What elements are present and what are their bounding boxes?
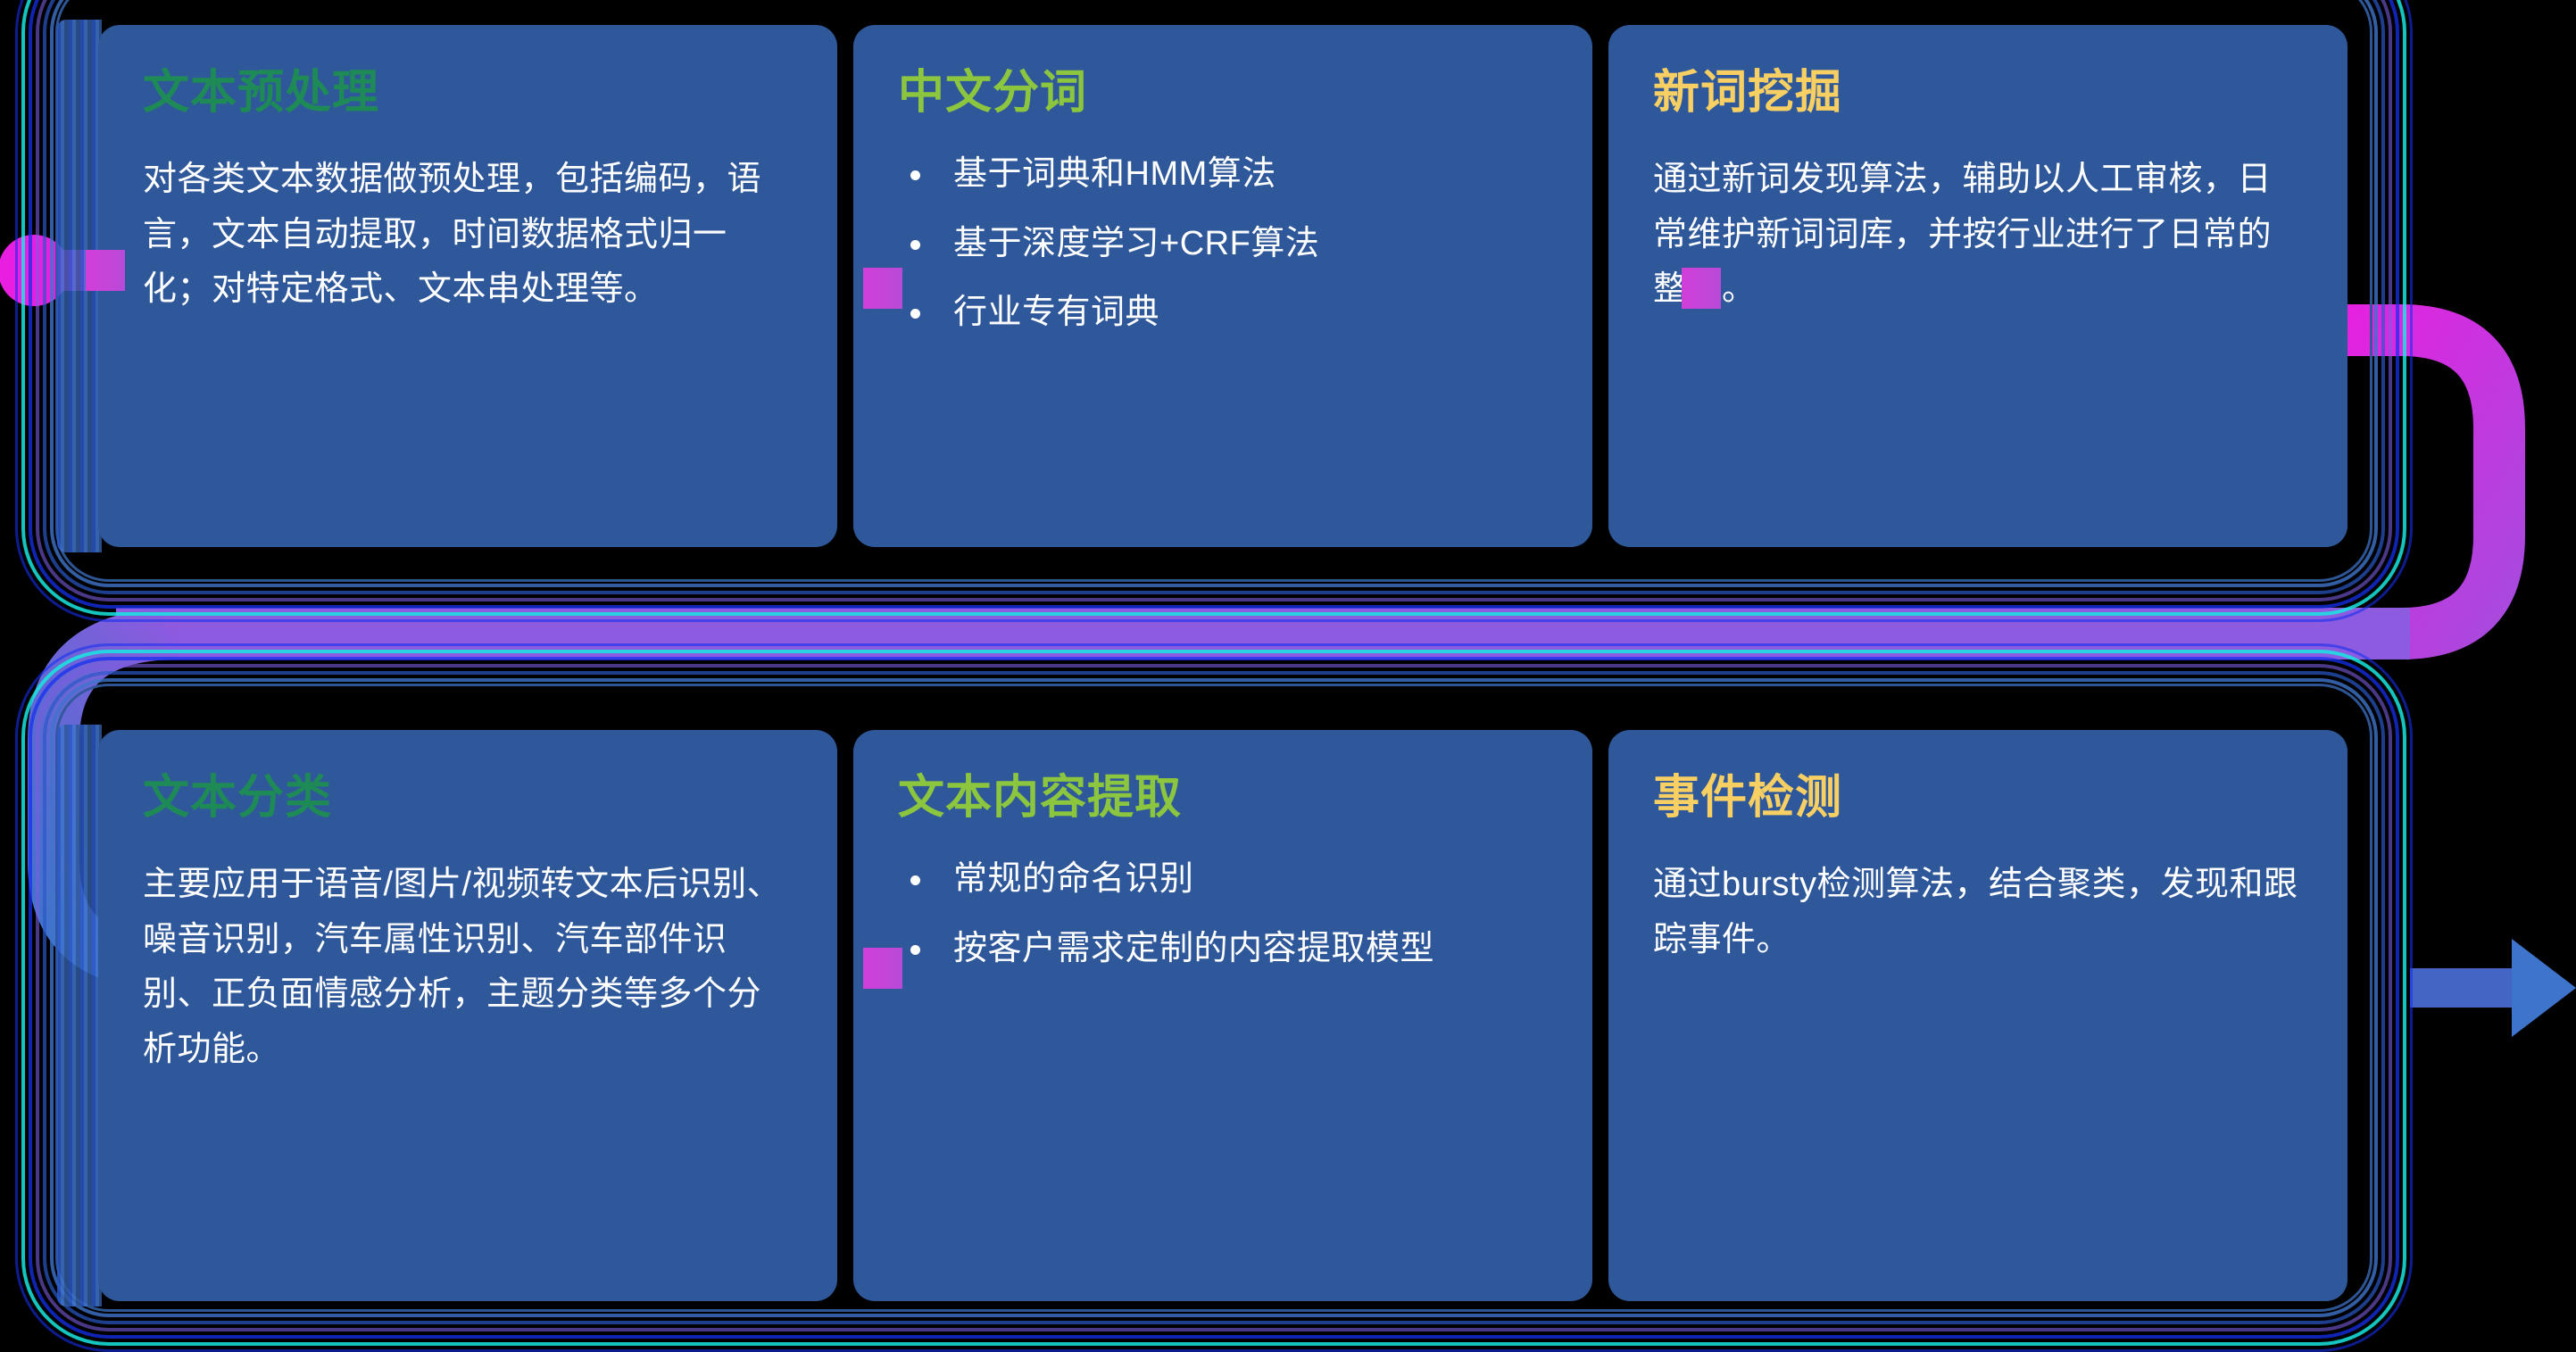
card-title: 文本内容提取 <box>898 773 1548 824</box>
connector-tab-3 <box>1682 268 1721 309</box>
connector-right-wrap <box>2321 330 2499 634</box>
list-item: 行业专有词典 <box>898 291 1548 335</box>
card-paragraph: 主要应用于语音/图片/视频转文本后识别、噪音识别，汽车属性识别、汽车部件识别、正… <box>143 858 793 1077</box>
card-event-detection[interactable]: 事件检测 通过bursty检测算法，结合聚类，发现和跟踪事件。 <box>1608 730 2347 1301</box>
card-title: 事件检测 <box>1653 773 2303 824</box>
connector-tab-1 <box>86 250 125 291</box>
card-bullet-list: 常规的命名识别 按客户需求定制的内容提取模型 <box>898 858 1548 971</box>
inner-sheen <box>57 725 102 1306</box>
connector-tab-4 <box>863 948 902 989</box>
card-chinese-word-segmentation[interactable]: 中文分词 基于词典和HMM算法 基于深度学习+CRF算法 行业专有词典 <box>853 25 1592 547</box>
card-text-preprocessing[interactable]: 文本预处理 对各类文本数据做预处理，包括编码，语言，文本自动提取，时间数据格式归… <box>98 25 837 547</box>
end-arrow <box>2512 939 2576 1037</box>
card-title: 文本分类 <box>143 773 793 824</box>
list-item: 常规的命名识别 <box>898 858 1548 901</box>
card-text-content-extraction[interactable]: 文本内容提取 常规的命名识别 按客户需求定制的内容提取模型 <box>853 730 1592 1301</box>
card-paragraph: 通过新词发现算法，辅助以人工审核，日常维护新词词库，并按行业进行了日常的整理。 <box>1653 153 2303 318</box>
card-text-classification[interactable]: 文本分类 主要应用于语音/图片/视频转文本后识别、噪音识别，汽车属性识别、汽车部… <box>98 730 837 1301</box>
end-connector-bar <box>2410 968 2517 1008</box>
bottom-row: 文本分类 主要应用于语音/图片/视频转文本后识别、噪音识别，汽车属性识别、汽车部… <box>98 730 2347 1301</box>
card-title: 中文分词 <box>898 68 1548 119</box>
card-paragraph: 通过bursty检测算法，结合聚类，发现和跟踪事件。 <box>1653 858 2303 967</box>
list-item: 基于词典和HMM算法 <box>898 153 1548 196</box>
card-title: 新词挖掘 <box>1653 68 2303 119</box>
card-title: 文本预处理 <box>143 68 793 119</box>
card-paragraph: 对各类文本数据做预处理，包括编码，语言，文本自动提取，时间数据格式归一化；对特定… <box>143 153 793 318</box>
top-row: 文本预处理 对各类文本数据做预处理，包括编码，语言，文本自动提取，时间数据格式归… <box>98 25 2347 547</box>
card-bullet-list: 基于词典和HMM算法 基于深度学习+CRF算法 行业专有词典 <box>898 153 1548 335</box>
list-item: 按客户需求定制的内容提取模型 <box>898 927 1548 971</box>
connector-tab-2 <box>863 268 902 309</box>
list-item: 基于深度学习+CRF算法 <box>898 222 1548 266</box>
